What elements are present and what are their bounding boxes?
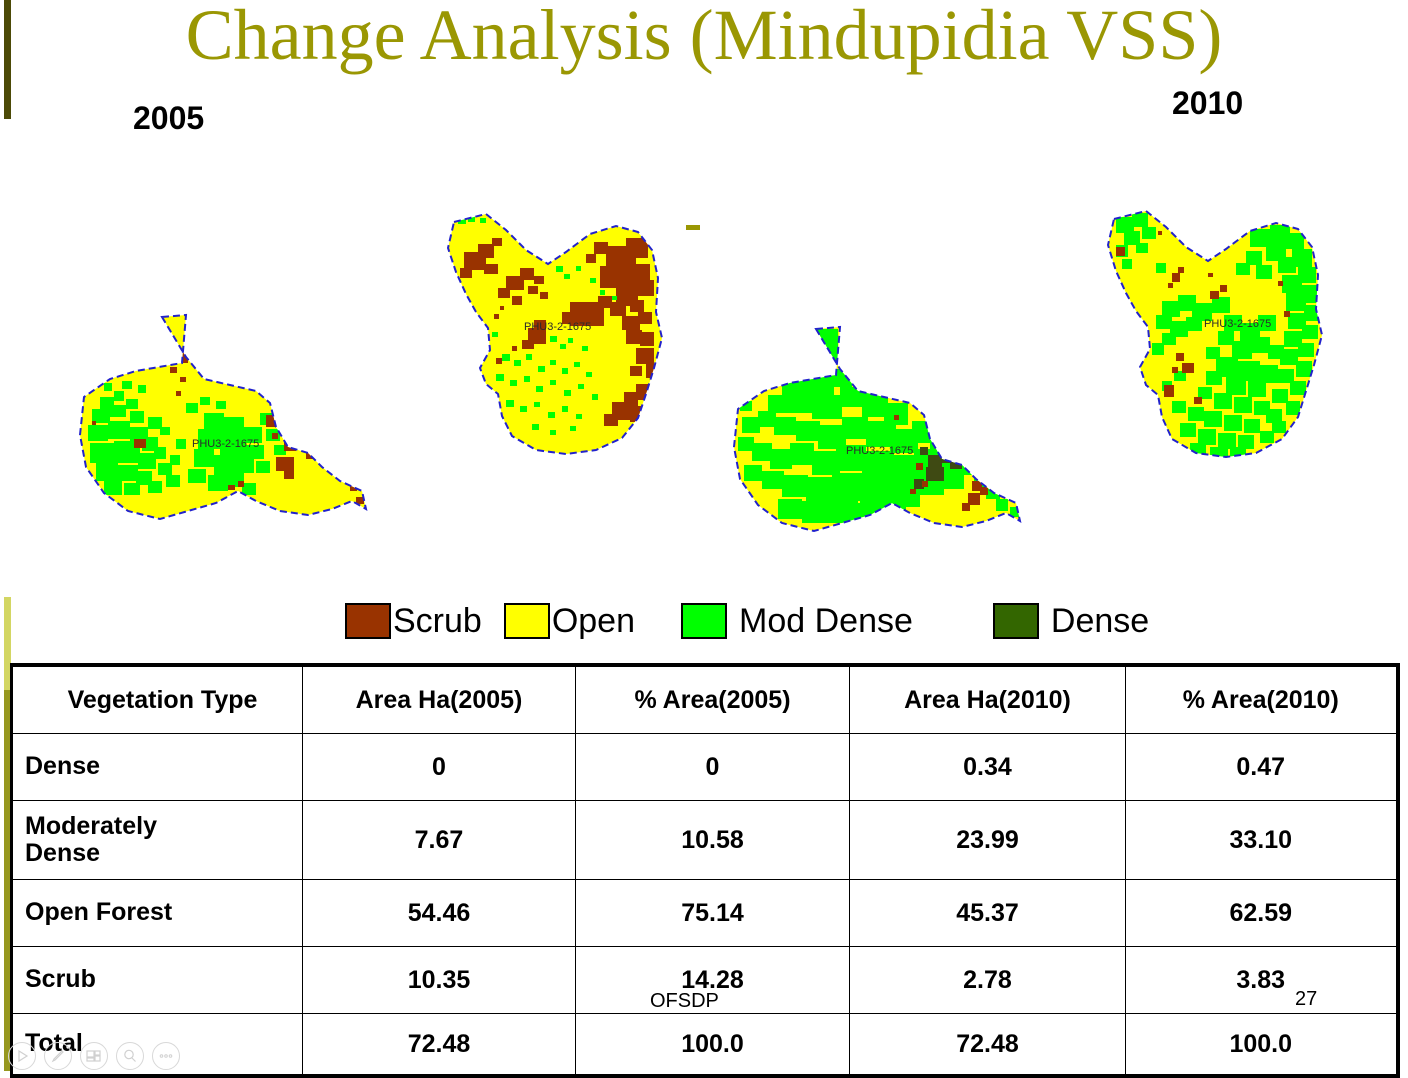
more-options-icon[interactable] bbox=[152, 1042, 180, 1070]
legend-label-mod-dense: Mod Dense bbox=[739, 604, 913, 638]
table-row: Open Forest 54.46 75.14 45.37 62.59 bbox=[12, 880, 1398, 947]
legend-item-mod-dense: Mod Dense bbox=[657, 603, 935, 639]
page-title: Change Analysis (Mindupidia VSS) bbox=[0, 0, 1408, 77]
legend-swatch-scrub bbox=[345, 603, 391, 639]
play-icon[interactable] bbox=[8, 1042, 36, 1070]
cell-area-ha-2005: 72.48 bbox=[303, 1014, 576, 1077]
cell-area-ha-2005: 10.35 bbox=[303, 947, 576, 1014]
legend-label-scrub: Scrub bbox=[393, 604, 482, 638]
map-2010-lower: PHU3-2-1675 bbox=[724, 325, 1044, 537]
cell-area-ha-2010: 23.99 bbox=[850, 801, 1126, 880]
column-header-area-ha-2010: Area Ha(2010) bbox=[850, 665, 1126, 734]
slide-grid-icon[interactable] bbox=[80, 1042, 108, 1070]
cell-pct-area-2005: 10.58 bbox=[576, 801, 850, 880]
cell-area-ha-2010: 2.78 bbox=[850, 947, 1126, 1014]
legend-swatch-open bbox=[504, 603, 550, 639]
presentation-toolbar[interactable] bbox=[8, 1042, 180, 1070]
footer-page-number: 27 bbox=[1295, 988, 1317, 1011]
map-code-label: PHU3-2-1675 bbox=[846, 445, 913, 457]
cell-vegetation-type: Scrub bbox=[12, 947, 303, 1014]
cell-pct-area-2005: 100.0 bbox=[576, 1014, 850, 1077]
pen-icon[interactable] bbox=[44, 1042, 72, 1070]
legend-swatch-mod-dense bbox=[681, 603, 727, 639]
map-2005-upper: PHU3-2-1675 bbox=[440, 208, 690, 460]
year-label-2010: 2010 bbox=[1172, 85, 1243, 122]
legend-item-scrub: Scrub bbox=[345, 603, 504, 639]
cell-area-ha-2010: 45.37 bbox=[850, 880, 1126, 947]
cell-vegetation-type: Moderately Dense bbox=[12, 801, 303, 880]
cell-area-ha-2010: 72.48 bbox=[850, 1014, 1126, 1077]
cell-area-ha-2005: 0 bbox=[303, 734, 576, 801]
legend-item-open: Open bbox=[504, 603, 657, 639]
cell-pct-area-2005: 0 bbox=[576, 734, 850, 801]
legend-item-dense: Dense bbox=[935, 603, 1149, 639]
legend-swatch-dense bbox=[993, 603, 1039, 639]
magnifier-icon[interactable] bbox=[116, 1042, 144, 1070]
table-row: Moderately Dense 7.67 10.58 23.99 33.10 bbox=[12, 801, 1398, 880]
column-header-pct-area-2010: % Area(2010) bbox=[1126, 665, 1398, 734]
table-row: Dense 0 0 0.34 0.47 bbox=[12, 734, 1398, 801]
legend-label-dense: Dense bbox=[1051, 604, 1149, 638]
footer-organization: OFSDP bbox=[650, 990, 719, 1013]
column-header-vegetation-type: Vegetation Type bbox=[12, 665, 303, 734]
year-label-2005: 2005 bbox=[133, 100, 204, 137]
map-2010-upper: PHU3-2-1675 bbox=[1100, 205, 1350, 467]
legend: Scrub Open Mod Dense Dense bbox=[345, 603, 1149, 639]
table-row-total: Total 72.48 100.0 72.48 100.0 bbox=[12, 1014, 1398, 1077]
cell-pct-area-2010: 100.0 bbox=[1126, 1014, 1398, 1077]
cell-pct-area-2010: 3.83 bbox=[1126, 947, 1398, 1014]
cell-pct-area-2010: 62.59 bbox=[1126, 880, 1398, 947]
map-code-label: PHU3-2-1675 bbox=[192, 438, 259, 450]
table-header-row: Vegetation Type Area Ha(2005) % Area(200… bbox=[12, 665, 1398, 734]
vegetation-change-table: Vegetation Type Area Ha(2005) % Area(200… bbox=[10, 663, 1400, 1078]
column-header-area-ha-2005: Area Ha(2005) bbox=[303, 665, 576, 734]
cell-pct-area-2010: 33.10 bbox=[1126, 801, 1398, 880]
map-code-label: PHU3-2-1675 bbox=[1204, 318, 1271, 330]
cell-pct-area-2010: 0.47 bbox=[1126, 734, 1398, 801]
cell-pct-area-2005: 75.14 bbox=[576, 880, 850, 947]
cell-area-ha-2005: 7.67 bbox=[303, 801, 576, 880]
legend-label-open: Open bbox=[552, 604, 635, 638]
map-2005-lower: PHU3-2-1675 bbox=[70, 305, 390, 540]
map-code-label: PHU3-2-1675 bbox=[524, 321, 591, 333]
cell-vegetation-type: Open Forest bbox=[12, 880, 303, 947]
cell-vegetation-type: Dense bbox=[12, 734, 303, 801]
cell-area-ha-2010: 0.34 bbox=[850, 734, 1126, 801]
column-header-pct-area-2005: % Area(2005) bbox=[576, 665, 850, 734]
cell-area-ha-2005: 54.46 bbox=[303, 880, 576, 947]
